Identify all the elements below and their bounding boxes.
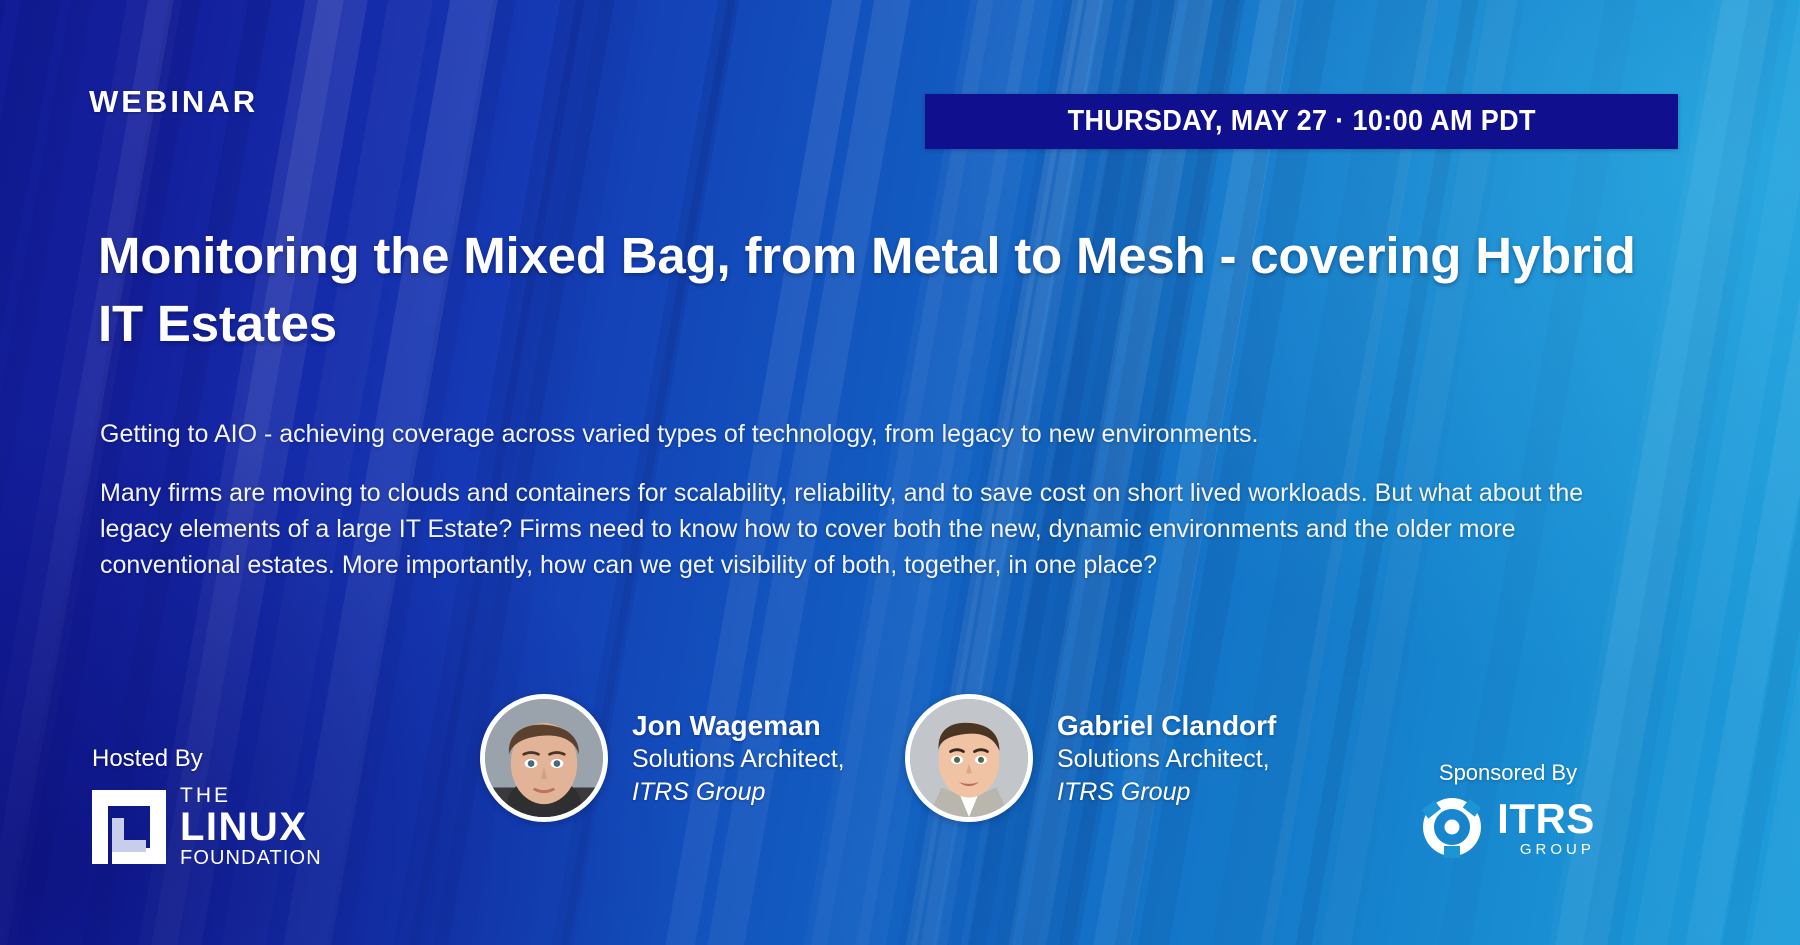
- description-paragraph: Many firms are moving to clouds and cont…: [100, 475, 1660, 583]
- page-title: Monitoring the Mixed Bag, from Metal to …: [98, 222, 1678, 358]
- itrs-gear-mark-icon: [1421, 796, 1483, 858]
- speaker-role: Solutions Architect,: [632, 743, 845, 776]
- speaker-card: Jon Wageman Solutions Architect, ITRS Gr…: [480, 694, 845, 822]
- itrs-name-text: ITRS: [1497, 798, 1595, 840]
- speaker-info: Gabriel Clandorf Solutions Architect, IT…: [1057, 708, 1276, 808]
- date-time-badge: THURSDAY, MAY 27 · 10:00 AM PDT: [925, 94, 1678, 149]
- lf-linux-text: LINUX: [180, 807, 322, 847]
- kicker-label: WEBINAR: [89, 84, 258, 120]
- sponsored-by-label: Sponsored By: [1358, 760, 1658, 786]
- speaker-name: Jon Wageman: [632, 708, 845, 743]
- speaker-org: ITRS Group: [1057, 776, 1276, 809]
- avatar: [480, 694, 608, 822]
- speaker-org: ITRS Group: [632, 776, 845, 809]
- lede-paragraph: Getting to AIO - achieving coverage acro…: [100, 417, 1660, 453]
- date-time-text: THURSDAY, MAY 27 · 10:00 AM PDT: [1067, 105, 1535, 138]
- speaker-info: Jon Wageman Solutions Architect, ITRS Gr…: [632, 708, 845, 808]
- itrs-logo: ITRS GROUP: [1358, 796, 1658, 858]
- itrs-wordmark: ITRS GROUP: [1497, 798, 1595, 857]
- speaker-role: Solutions Architect,: [1057, 743, 1276, 776]
- linux-foundation-logo: THE LINUX FOUNDATION: [92, 785, 392, 868]
- itrs-group-text: GROUP: [1497, 842, 1595, 857]
- speaker-name: Gabriel Clandorf: [1057, 708, 1276, 743]
- sponsored-by-block: Sponsored By ITRS GROUP: [1358, 760, 1658, 858]
- speaker-card: Gabriel Clandorf Solutions Architect, IT…: [905, 694, 1276, 822]
- linux-foundation-mark-icon: [92, 790, 166, 864]
- lf-the-text: THE: [180, 784, 231, 807]
- lf-foundation-text: FOUNDATION: [180, 847, 322, 869]
- hosted-by-label: Hosted By: [92, 745, 392, 773]
- promo-card: WEBINAR THURSDAY, MAY 27 · 10:00 AM PDT …: [0, 0, 1800, 945]
- avatar: [905, 694, 1033, 822]
- hosted-by-block: Hosted By THE LINUX FOUNDATION: [92, 745, 392, 868]
- linux-foundation-wordmark: THE LINUX FOUNDATION: [180, 785, 322, 868]
